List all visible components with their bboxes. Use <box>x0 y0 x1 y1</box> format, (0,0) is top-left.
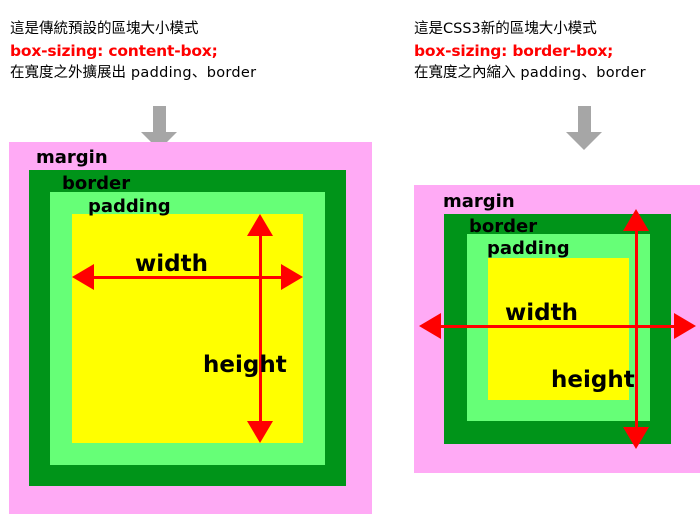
height-arrow-head-top <box>623 209 649 231</box>
height-arrow-shaft <box>259 224 262 433</box>
caption-right-line3: 在寬度之內縮入 padding、border <box>414 62 646 84</box>
height-arrow-shaft <box>635 219 638 439</box>
caption-left-line3-prefix: 在寬度之外擴展出 <box>10 65 126 81</box>
border-label-right: border <box>469 217 537 237</box>
height-label-left: height <box>203 353 287 377</box>
down-arrow-head <box>566 132 602 150</box>
caption-right-code: box-sizing: border-box; <box>414 40 646 62</box>
width-arrow-head-left <box>72 264 94 290</box>
height-arrow-head-bottom <box>623 427 649 449</box>
caption-right-line3-suffix: padding、border <box>516 65 646 81</box>
width-arrow-head-left <box>419 313 441 339</box>
caption-left-line3-suffix: padding、border <box>126 65 256 81</box>
caption-right-line1: 這是CSS3新的區塊大小模式 <box>414 18 646 40</box>
caption-left-code: box-sizing: content-box; <box>10 40 256 62</box>
height-label-right: height <box>551 368 635 392</box>
padding-label-right: padding <box>487 239 570 259</box>
width-arrow-head-right <box>281 264 303 290</box>
caption-left-line1: 這是傳統預設的區塊大小模式 <box>10 18 256 40</box>
height-arrow-head-bottom <box>247 421 273 443</box>
width-label-right: width <box>505 301 578 325</box>
padding-label-left: padding <box>88 197 171 217</box>
margin-label-right: margin <box>443 192 515 212</box>
height-arrow-left <box>247 214 273 443</box>
margin-label-left: margin <box>36 148 108 168</box>
width-label-left: width <box>135 252 208 276</box>
caption-left-line3: 在寬度之外擴展出 padding、border <box>10 62 256 84</box>
down-arrow-shaft <box>153 106 166 134</box>
caption-right-line3-prefix: 在寬度之內縮入 <box>414 65 516 81</box>
width-arrow-head-right <box>674 313 696 339</box>
caption-border-box: 這是CSS3新的區塊大小模式 box-sizing: border-box; 在… <box>414 18 646 84</box>
down-arrow-icon <box>564 106 604 150</box>
down-arrow-shaft <box>578 106 591 134</box>
caption-content-box: 這是傳統預設的區塊大小模式 box-sizing: content-box; 在… <box>10 18 256 84</box>
height-arrow-head-top <box>247 214 273 236</box>
height-arrow-right <box>623 209 649 449</box>
border-label-left: border <box>62 174 130 194</box>
